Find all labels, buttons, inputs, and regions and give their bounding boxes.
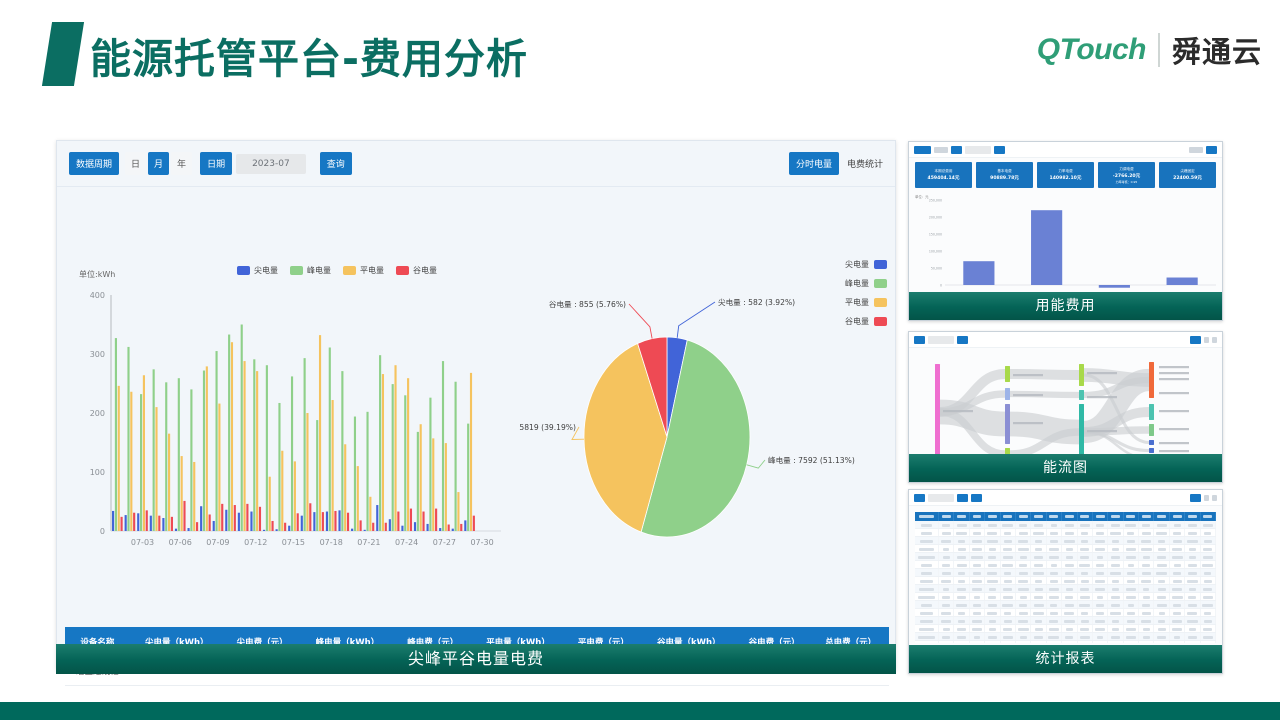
mini-table-cell [1016,641,1031,643]
svg-text:谷电量 : 855 (5.76%): 谷电量 : 855 (5.76%) [549,299,626,309]
kpi-card: 尖峰固定22400.59元 [1159,162,1216,188]
mini-table-cell [1001,601,1016,608]
tab-fee-statistics[interactable]: 电费统计 [847,157,883,170]
kpi-value: 22400.59元 [1173,175,1202,181]
mini-table-cell [939,577,954,584]
mini-table-cell [970,633,985,640]
mini-table-cell [1139,617,1154,624]
mini-table-cell [1078,593,1093,600]
mini-table-header-cell [1124,512,1139,521]
mini-table-cell [1031,569,1046,576]
mini-table-header-cell [1139,512,1154,521]
mini-table-header-cell [1031,512,1046,521]
mini-table-cell [1062,625,1077,632]
mini-report-date-field[interactable] [928,494,954,502]
mini-table-cell [1047,601,1062,608]
kpi-value: -2766.20元 [1113,173,1140,179]
mini-table-cell [1108,617,1123,624]
mini-table-cell [939,545,954,552]
mini-table-cell [915,545,939,552]
mini-table-cell [954,577,969,584]
mini-table-cell [985,529,1000,536]
mini-table-cell [1170,561,1185,568]
mini-table-cell [985,641,1000,643]
period-option-year[interactable]: 年 [171,152,192,175]
svg-text:250,000: 250,000 [929,199,942,203]
svg-text:07-03: 07-03 [131,538,154,547]
mini-table-cell [1139,633,1154,640]
date-input[interactable]: 2023-07 [236,154,306,174]
mini-table-cell [970,609,985,616]
mini-table-row[interactable] [915,601,1216,609]
mini-icon-b[interactable] [1212,337,1217,343]
mini-table-cell [954,521,969,528]
mini-table-cell [970,545,985,552]
mini-table-cell [1001,577,1016,584]
pie-legend-swatch-ping [874,298,887,307]
mini-table-cell [1139,545,1154,552]
kpi-title: 尖峰固定 [1180,169,1194,174]
mini-table-cell [1016,625,1031,632]
legend-swatch-gu [396,266,409,275]
mini-query-button[interactable] [994,146,1005,154]
mini-table-row[interactable] [915,617,1216,625]
mini-table-row[interactable] [915,553,1216,561]
pie-legend-swatch-gu [874,317,887,326]
mini-table-cell [985,609,1000,616]
mini-toolbar-energy-flow [909,332,1222,348]
mini-table-cell [1001,617,1016,624]
mini-tab-active[interactable] [1206,146,1217,154]
mini-table-cell [954,585,969,592]
pie-legend-item-gu[interactable]: 谷电量 [845,316,887,327]
mini-table-cell [985,601,1000,608]
pie-chart-svg: 尖电量 : 582 (3.92%)峰电量 : 7592 (51.13%)平电量 … [517,282,857,567]
mini-table-cell [985,585,1000,592]
mini-table-cell [1108,577,1123,584]
mini-table-cell [1185,585,1200,592]
mini-report-table [915,512,1216,643]
mini-table-cell [1093,633,1108,640]
mini-table-cell [1139,521,1154,528]
mini-table-row[interactable] [915,641,1216,643]
mini-table-cell [915,521,939,528]
mini-table-row[interactable] [915,633,1216,641]
mini-table-cell [1154,553,1169,560]
mini-table-cell [970,601,985,608]
mini-type-button[interactable] [914,336,925,344]
mini-table-cell [1170,617,1185,624]
mini-table-cell [1001,593,1016,600]
pie-legend-label-ping: 平电量 [845,297,869,308]
mini-table-cell [1201,625,1216,632]
bar-chart-legend[interactable]: 尖电量 峰电量 平电量 谷电量 [237,265,437,276]
kpi-card: 基本电费90889.78元 [976,162,1033,188]
mini-table-cell [1093,521,1108,528]
mini-table-cell [1078,609,1093,616]
mini-table-cell [1108,561,1123,568]
pie-legend-label-jian: 尖电量 [845,259,869,270]
mini-table-cell [939,601,954,608]
mini-table-cell [1016,617,1031,624]
mini-table-cell [915,577,939,584]
period-option-month[interactable]: 月 [148,152,169,175]
mini-table-cell [970,529,985,536]
mini-search-button[interactable] [957,336,968,344]
charts-area: 单位:kWh 尖电量 峰电量 平电量 谷电量 [57,187,895,572]
mini-table-cell [1201,609,1216,616]
mini-table-cell [954,545,969,552]
brand-name-cn: 舜通云 [1172,29,1262,71]
mini-table-cell [970,521,985,528]
legend-label-ping: 平电量 [360,265,384,276]
mini-table-cell [1001,585,1016,592]
mini-table-cell [1170,545,1185,552]
mini-table-cell [1001,529,1016,536]
legend-item-jian[interactable]: 尖电量 [237,265,278,276]
legend-item-gu[interactable]: 谷电量 [396,265,437,276]
kpi-value: 459404.14元 [928,175,960,181]
mini-table-cell [1093,609,1108,616]
mini-table-cell [1108,593,1123,600]
mini-table-cell [1031,585,1046,592]
mini-icon-a[interactable] [1204,337,1209,343]
brand-logo: QTouch 舜通云 [1037,28,1262,72]
mini-table-cell [1170,585,1185,592]
mini-table-cell [915,529,939,536]
svg-text:0: 0 [100,527,105,536]
mini-table-cell [1001,625,1016,632]
mini-toolbar-right-flow [1190,336,1217,344]
mini-table-cell [1154,609,1169,616]
mini-table-cell [954,593,969,600]
mini-table-cell [1062,529,1077,536]
svg-text:07-24: 07-24 [395,538,418,547]
mini-table-cell [1001,641,1016,643]
mini-table-header-cell [1170,512,1185,521]
mini-table-cell [1139,593,1154,600]
legend-label-gu: 谷电量 [413,265,437,276]
mini-table-cell [1016,553,1031,560]
mini-table-cell [1154,569,1169,576]
mini-table-cell [1062,585,1077,592]
period-option-day[interactable]: 日 [125,152,146,175]
pie-chart-legend[interactable]: 尖电量 峰电量 平电量 谷电量 [845,259,887,327]
legend-item-ping[interactable]: 平电量 [343,265,384,276]
mini-table-cell [1201,633,1216,640]
svg-text:50,000: 50,000 [931,267,942,271]
mini-table-cell [1047,617,1062,624]
mini-table-cell [1016,593,1031,600]
mini-table-cell [915,625,939,632]
mini-month-option[interactable] [951,146,962,154]
mini-report-view-button[interactable] [1190,494,1201,502]
data-period-button[interactable]: 数据周期 [69,152,119,175]
mini-table-cell [1093,625,1108,632]
svg-text:07-30: 07-30 [470,538,493,547]
svg-text:400: 400 [90,291,105,300]
mini-table-cell [1047,561,1062,568]
pie-legend-item-jian[interactable]: 尖电量 [845,259,887,270]
mini-table-cell [985,553,1000,560]
mini-table-cell [1124,545,1139,552]
mini-table-cell [939,593,954,600]
mini-table-header-cell [1062,512,1077,521]
mini-table-cell [1201,577,1216,584]
mini-table-cell [1154,617,1169,624]
mini-table-cell [1139,553,1154,560]
mini-table-cell [970,593,985,600]
thumbnail-energy-flow[interactable]: 能流图 [908,331,1223,483]
pie-legend-swatch-feng [874,279,887,288]
mini-table-cell [1047,545,1062,552]
pie-legend-label-feng: 峰电量 [845,278,869,289]
thumbnail-caption-energy-flow: 能流图 [909,454,1222,482]
mini-table-cell [1016,561,1031,568]
mini-table-cell [915,609,939,616]
mini-table-cell [939,521,954,528]
mini-table-cell [1108,641,1123,643]
mini-table-row[interactable] [915,593,1216,601]
mini-table-row[interactable] [915,529,1216,537]
mini-table-cell [1108,529,1123,536]
mini-table-header-cell [939,512,954,521]
mini-table-row[interactable] [915,585,1216,593]
kpi-title: 力调电费 [1119,167,1133,172]
mini-table-cell [915,585,939,592]
svg-text:07-15: 07-15 [282,538,305,547]
mini-table-cell [1078,641,1093,643]
mini-table-cell [1185,529,1200,536]
mini-date-field[interactable] [965,146,991,154]
mini-table-cell [985,521,1000,528]
mini-table-cell [954,553,969,560]
mini-table-row[interactable] [915,537,1216,545]
tou-bar-chart: 010020030040007-0307-0607-0907-1207-1507… [77,287,507,557]
mini-table-cell [1201,521,1216,528]
mini-table-cell [1139,569,1154,576]
mini-table-cell [939,633,954,640]
kpi-card: 本期总费用459404.14元 [915,162,972,188]
mini-report-type-button[interactable] [914,494,925,502]
mini-table-cell [1201,601,1216,608]
thumbnail-energy-cost[interactable]: 本期总费用459404.14元基本电费90889.78元力率电费140982.1… [908,141,1223,321]
pie-legend-item-feng[interactable]: 峰电量 [845,278,887,289]
mini-report-export-button[interactable] [971,494,982,502]
mini-table-cell [1185,601,1200,608]
mini-table-header-cell [1016,512,1031,521]
mini-table-cell [1016,569,1031,576]
mini-table-cell [985,625,1000,632]
chart-unit-label: 单位:kWh [79,269,115,280]
mini-table-cell [1047,593,1062,600]
svg-text:07-09: 07-09 [206,538,229,547]
mini-table-row[interactable] [915,545,1216,553]
mini-table-cell [915,633,939,640]
mini-table-cell [954,569,969,576]
mini-report-query-button[interactable] [957,494,968,502]
mini-table-cell [1016,545,1031,552]
mini-table-cell [1001,609,1016,616]
mini-table-header-cell [1078,512,1093,521]
mini-table-cell [1001,569,1016,576]
kpi-subtext: 力率考核：0.95 [1116,180,1138,184]
mini-table-cell [1031,617,1046,624]
kpi-card: 力调电费-2766.20元力率考核：0.95 [1098,162,1155,188]
period-segmented-control[interactable]: 日 月 年 [123,152,192,175]
mini-table-cell [1093,553,1108,560]
thumbnail-caption-energy-cost: 用能费用 [909,292,1222,320]
mini-table-cell [1170,529,1185,536]
mini-table-header-cell [915,512,939,521]
mini-table-cell [1170,601,1185,608]
mini-table-cell [1124,641,1139,643]
kpi-value: 90889.78元 [990,175,1019,181]
tab-tou-electricity[interactable]: 分时电量 [789,152,839,175]
mini-table-cell [1031,545,1046,552]
mini-table-cell [1201,529,1216,536]
mini-table-cell [1154,585,1169,592]
mini-table-header-cell [1185,512,1200,521]
mini-table-cell [1201,593,1216,600]
thumbnail-caption-statistics-report: 统计报表 [909,645,1222,673]
mini-table-cell [1139,529,1154,536]
mini-table-cell [939,561,954,568]
mini-table-cell [1093,529,1108,536]
mini-table-cell [1001,545,1016,552]
mini-daterange-field[interactable] [928,336,954,344]
mini-toolbar-energy-cost [909,142,1222,158]
mini-table-cell [1154,521,1169,528]
mini-table-cell [1016,585,1031,592]
date-label-button[interactable]: 日期 [200,152,232,175]
mini-table-cell [1016,633,1031,640]
legend-label-feng: 峰电量 [307,265,331,276]
mini-table-cell [954,529,969,536]
mini-table-row[interactable] [915,561,1216,569]
mini-table-row[interactable] [915,625,1216,633]
mini-table-cell [985,569,1000,576]
pie-legend-item-ping[interactable]: 平电量 [845,297,887,308]
mini-table-row[interactable] [915,609,1216,617]
mini-table-cell [1108,601,1123,608]
kpi-card-row: 本期总费用459404.14元基本电费90889.78元力率电费140982.1… [915,162,1216,188]
footer-bar [0,702,1280,720]
mini-table-cell [1047,609,1062,616]
mini-table-header-cell [1047,512,1062,521]
mini-table-cell [1016,529,1031,536]
mini-table-cell [1108,569,1123,576]
mini-table-cell [1062,641,1077,643]
mini-table-cell [985,633,1000,640]
mini-table-cell [1154,577,1169,584]
mini-table-cell [1170,641,1185,643]
page-title: 能源托管平台-费用分析 [90,25,528,85]
svg-text:150,000: 150,000 [929,233,942,237]
mini-table-cell [1093,641,1108,643]
mini-table-cell [1124,601,1139,608]
mini-table-cell [1201,569,1216,576]
mini-table-cell [1031,537,1046,544]
mini-table-row[interactable] [915,569,1216,577]
svg-text:100,000: 100,000 [929,250,942,254]
mini-table-row[interactable] [915,577,1216,585]
kpi-value: 140982.10元 [1050,175,1082,181]
panel-toolbar: 数据周期 日 月 年 日期 2023-07 查询 分时电量 电费统计 [57,141,895,187]
mini-table-cell [1078,569,1093,576]
mini-table-cell [1001,537,1016,544]
mini-table-cell [985,537,1000,544]
mini-table-cell [1047,537,1062,544]
mini-icon-c[interactable] [1204,495,1209,501]
mini-table-cell [1062,617,1077,624]
mini-icon-d[interactable] [1212,495,1217,501]
mini-table-cell [1124,529,1139,536]
mini-table-cell [1139,585,1154,592]
mini-table-cell [1185,521,1200,528]
mini-table-cell [1078,553,1093,560]
mini-table-cell [1170,593,1185,600]
mini-table-cell [970,561,985,568]
mini-table-cell [1124,577,1139,584]
mini-table-cell [1047,577,1062,584]
mini-table-cell [1078,545,1093,552]
mini-table-cell [1185,561,1200,568]
mini-day-option[interactable] [934,147,948,153]
mini-table-cell [1170,633,1185,640]
mini-table-cell [1047,641,1062,643]
mini-table-cell [1001,521,1016,528]
svg-text:07-12: 07-12 [244,538,267,547]
mini-table-cell [1170,625,1185,632]
mini-table-cell [1154,561,1169,568]
mini-table-cell [1078,585,1093,592]
mini-table-cell [939,585,954,592]
mini-table-cell [1078,601,1093,608]
mini-table-cell [1062,633,1077,640]
brand-name-en: QTouch [1037,33,1146,67]
mini-tab-inactive[interactable] [1189,147,1203,153]
mini-table-cell [1139,537,1154,544]
mini-table-cell [1201,561,1216,568]
mini-table-cell [970,617,985,624]
mini-period-button[interactable] [914,146,931,154]
mini-table-header-cell [954,512,969,521]
mini-table-cell [1078,633,1093,640]
mini-view-button[interactable] [1190,336,1201,344]
mini-table-cell [1139,625,1154,632]
mini-table-cell [1108,545,1123,552]
kpi-title: 力率电费 [1058,169,1072,174]
svg-text:07-21: 07-21 [357,538,380,547]
mini-table-cell [1201,585,1216,592]
mini-table-cell [1062,577,1077,584]
legend-item-feng[interactable]: 峰电量 [290,265,331,276]
pie-legend-label-gu: 谷电量 [845,316,869,327]
mini-table-cell [1093,561,1108,568]
thumbnail-statistics-report[interactable]: 统计报表 [908,489,1223,674]
mini-table-cell [1124,617,1139,624]
mini-table-row[interactable] [915,521,1216,529]
query-button[interactable]: 查询 [320,152,352,175]
mini-table-cell [1093,617,1108,624]
brand-divider [1158,33,1160,67]
svg-text:尖电量 : 582 (3.92%): 尖电量 : 582 (3.92%) [718,297,795,307]
mini-table-cell [1108,609,1123,616]
mini-table-cell [1047,585,1062,592]
mini-table-cell [939,609,954,616]
mini-table-cell [939,553,954,560]
